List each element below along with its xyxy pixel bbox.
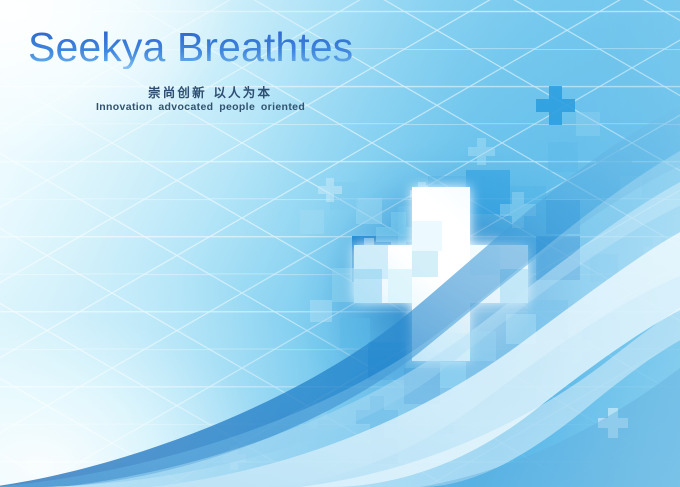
- brand-block: Seekya Breathtes 崇尚创新 以人为本 Innovation ad…: [0, 0, 680, 130]
- slogan-english: Innovation advocated people oriented: [96, 101, 305, 113]
- slogan-chinese: 崇尚创新 以人为本: [148, 82, 272, 101]
- page-title: Seekya Breathtes: [28, 26, 353, 69]
- poster-canvas: Seekya Breathtes 崇尚创新 以人为本 Innovation ad…: [0, 0, 680, 487]
